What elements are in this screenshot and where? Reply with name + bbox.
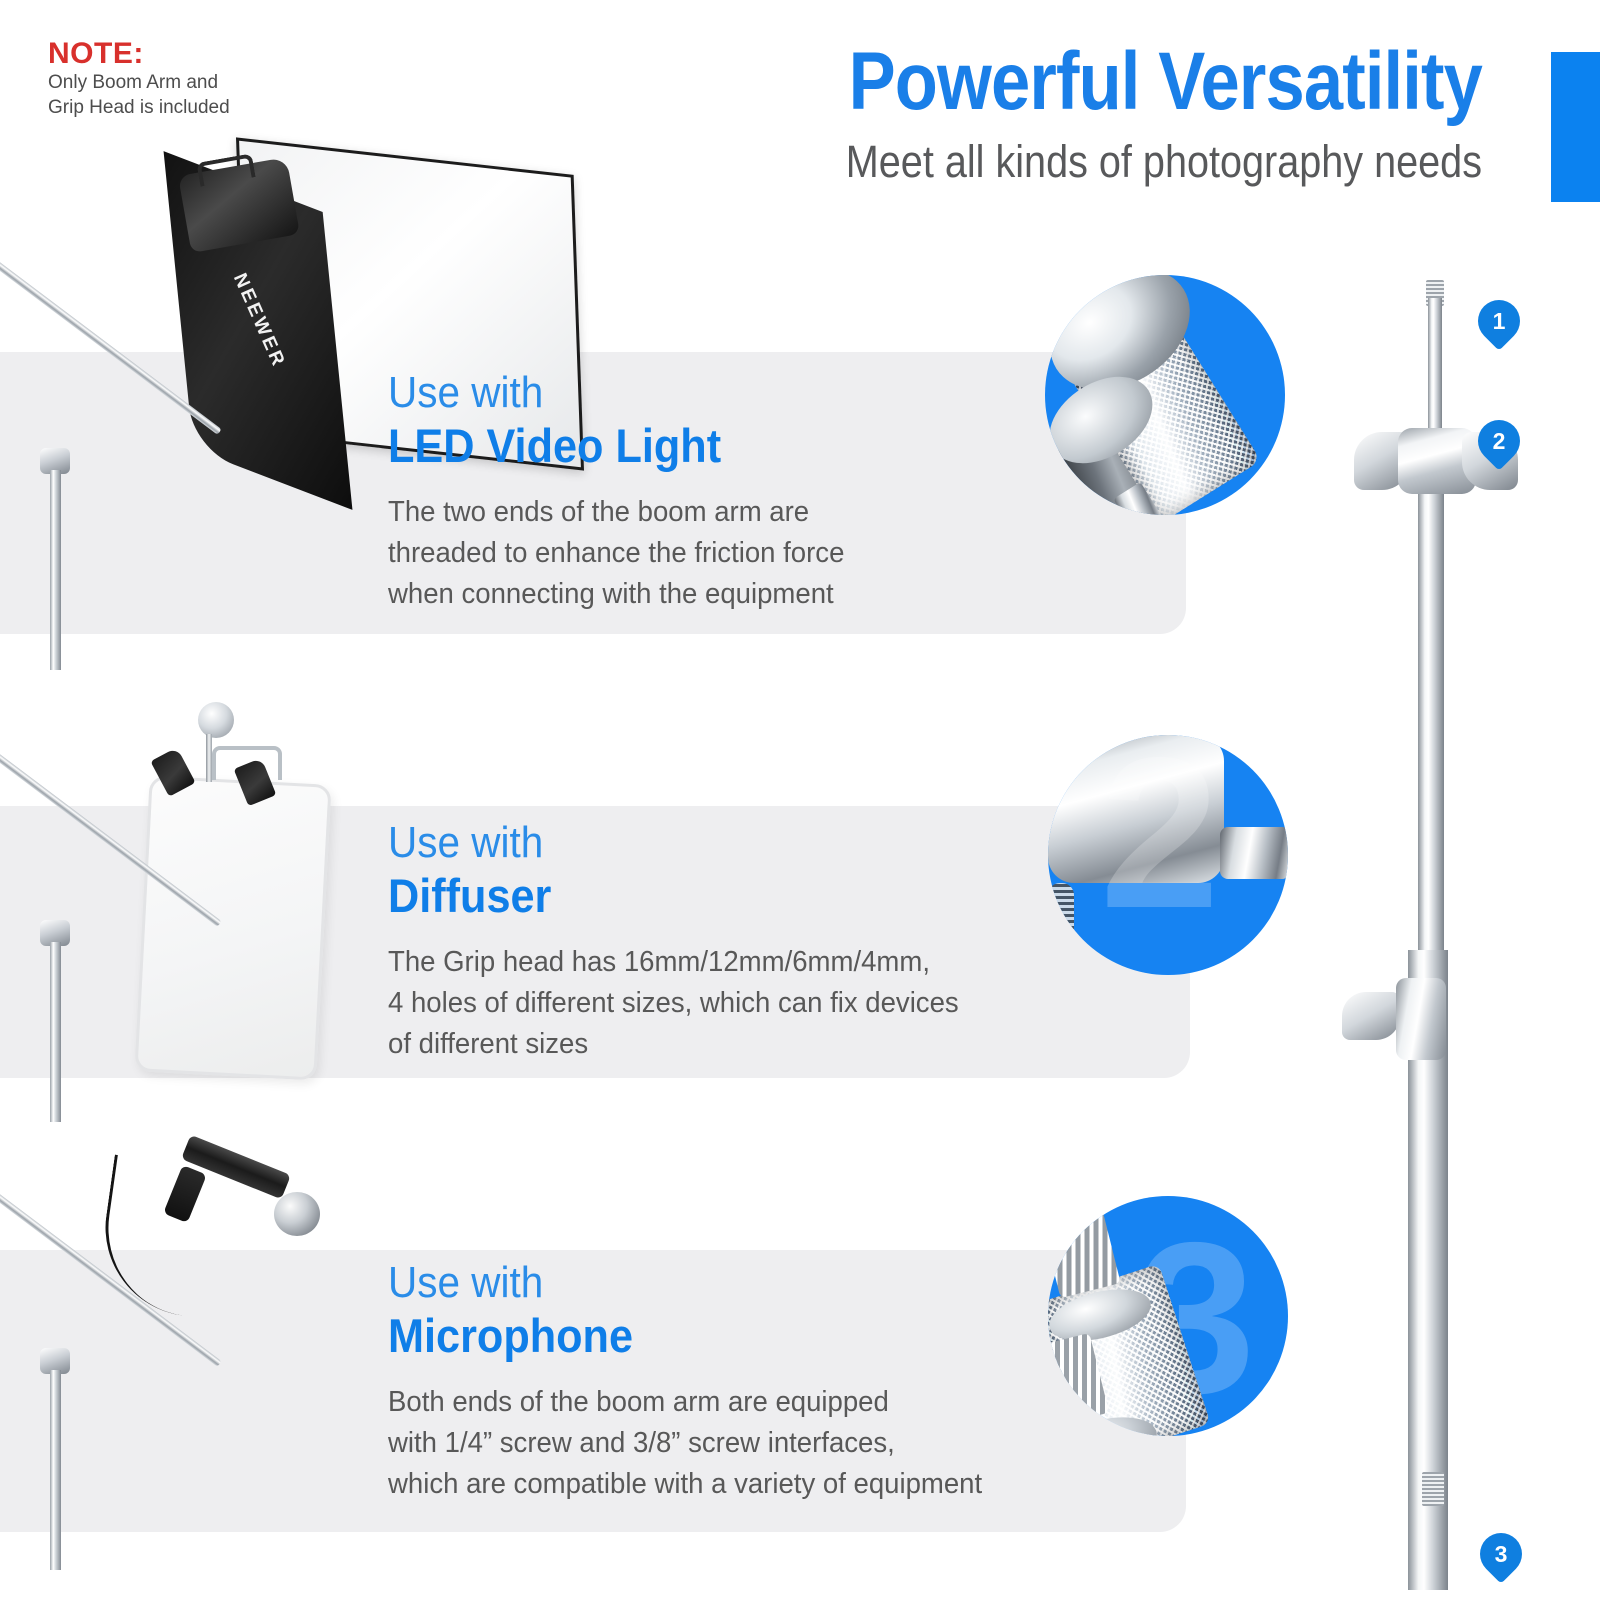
callout-circle-2: 2: [1048, 735, 1288, 975]
stand-threaded-bottom-tip: [1422, 1472, 1444, 1506]
feature-3-use-label: Use with: [388, 1258, 963, 1307]
stand-marker-3: 3: [1471, 1524, 1530, 1583]
product-photo-microphone: [110, 1120, 370, 1320]
grip-head-knurled-ring: [1048, 883, 1074, 975]
stand-collar-clamp: [1338, 970, 1454, 1066]
page-title: Powerful Versatility: [725, 40, 1482, 124]
diffuser-panel: [134, 775, 331, 1080]
stand-tube-middle: [1418, 470, 1444, 970]
grip-head-2: [198, 702, 234, 738]
stand-pole-3: [50, 1370, 61, 1570]
stand-marker-1: 1: [1469, 291, 1528, 350]
accent-bar: [1551, 52, 1600, 202]
feature-1-description: The two ends of the boom arm are threade…: [388, 492, 844, 616]
note-line-2: Grip Head is included: [48, 95, 368, 120]
collar-knob: [1342, 992, 1400, 1040]
stand-pole-1: [50, 470, 61, 670]
feature-2-description: The Grip head has 16mm/12mm/6mm/4mm, 4 h…: [388, 942, 959, 1066]
stand-marker-2: 2: [1469, 411, 1528, 470]
infographic-page: NOTE: Only Boom Arm and Grip Head is inc…: [0, 0, 1600, 1600]
page-subtitle: Meet all kinds of photography needs: [708, 138, 1482, 185]
feature-1-title: LED Video Light: [388, 419, 830, 474]
collar-body: [1396, 978, 1446, 1060]
feature-2: Use with Diffuser The Grip head has 16mm…: [388, 818, 989, 1065]
note-block: NOTE: Only Boom Arm and Grip Head is inc…: [48, 38, 368, 120]
feature-3: Use with Microphone Both ends of the boo…: [388, 1258, 1013, 1505]
light-stand-photo: [1330, 270, 1600, 1600]
feature-2-use-label: Use with: [388, 818, 941, 867]
microphone-mesh-head: [274, 1192, 320, 1236]
stand-marker-1-label: 1: [1478, 300, 1520, 342]
feature-3-description: Both ends of the boom arm are equipped w…: [388, 1382, 982, 1506]
header-block: Powerful Versatility Meet all kinds of p…: [602, 40, 1482, 185]
stand-pole-2: [50, 942, 61, 1122]
feature-2-title: Diffuser: [388, 869, 941, 924]
callout-2-watermark-number: 2: [1100, 735, 1220, 940]
note-title: NOTE:: [48, 38, 368, 70]
feature-1-use-label: Use with: [388, 368, 830, 417]
feature-3-title: Microphone: [388, 1309, 963, 1364]
grip-head-threaded-nose: [1220, 827, 1288, 879]
feature-1: Use with LED Video Light The two ends of…: [388, 368, 868, 615]
screw-quarter-inch: [1048, 1196, 1121, 1298]
product-photo-diffuser: [120, 690, 420, 1090]
stand-marker-3-label: 3: [1480, 1533, 1522, 1575]
note-line-1: Only Boom Arm and: [48, 70, 368, 95]
callout-circle-3: 3: [1048, 1196, 1288, 1436]
stand-marker-2-label: 2: [1478, 420, 1520, 462]
callout-circle-1: 1: [1045, 275, 1285, 515]
